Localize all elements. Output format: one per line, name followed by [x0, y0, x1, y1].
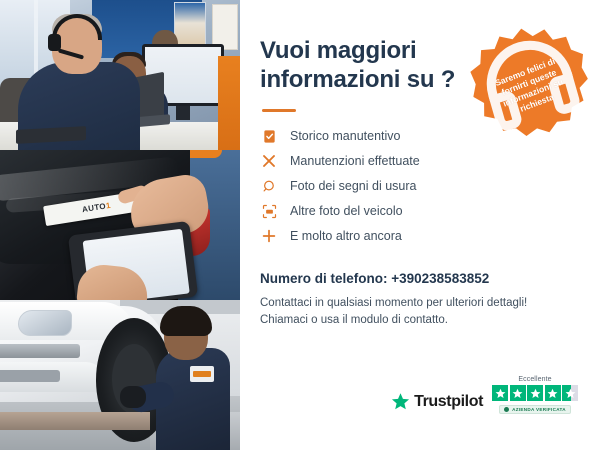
- star-icon-partial: [562, 385, 578, 401]
- photo-column: AUTO1: [0, 0, 240, 450]
- contact-copy-line-1: Contattaci in qualsiasi momento per ulte…: [260, 295, 576, 313]
- trustpilot-wordmark: Trustpilot: [414, 393, 483, 411]
- car-lower-intake: [0, 370, 60, 382]
- mechanic-glove: [120, 386, 146, 408]
- car-grille: [0, 344, 80, 358]
- verified-business-badge: AZIENDA VERIFICATA: [499, 405, 571, 414]
- mechanic-hair: [160, 306, 212, 336]
- star-icon: [492, 385, 508, 401]
- verified-business-label: AZIENDA VERIFICATA: [512, 407, 566, 412]
- contact-copy: Contattaci in qualsiasi momento per ulte…: [260, 295, 576, 331]
- list-item-label: Altre foto del veicolo: [290, 204, 403, 218]
- trustpilot-rating-label: Eccellente: [518, 376, 551, 383]
- list-item-label: Storico manutentivo: [290, 129, 400, 143]
- trustpilot-star-icon: [391, 392, 410, 411]
- monitor-stand: [176, 106, 190, 120]
- list-item: Foto dei segni di usura: [260, 174, 576, 199]
- phone-label: Numero di telefono:: [260, 271, 391, 286]
- phone-number[interactable]: +390238583852: [391, 271, 489, 286]
- star-icon: [527, 385, 543, 401]
- verified-check-icon: [504, 407, 509, 412]
- list-item-label: Foto dei segni di usura: [290, 179, 416, 193]
- list-item: E molto altro ancora: [260, 224, 576, 249]
- headline-line-1: Vuoi maggiori: [260, 37, 417, 64]
- plus-icon: [260, 227, 278, 245]
- photo-white-car-on-lift-mechanic: [0, 300, 240, 450]
- uniform-logo-patch: [190, 366, 214, 382]
- magnifier-icon: [260, 177, 278, 195]
- vehicle-lift-platform: [0, 412, 150, 430]
- orange-accent-edge: [218, 56, 240, 150]
- photo-vehicle-inspection-with-tablet: AUTO1: [0, 150, 240, 300]
- star-icon: [545, 385, 561, 401]
- clipboard-check-icon: [260, 127, 278, 145]
- content-panel: Vuoi maggiori informazioni su ? Storico …: [240, 0, 600, 450]
- trustpilot-widget[interactable]: Trustpilot Eccellente AZIENDA VERIFICATA: [391, 376, 578, 414]
- sticker-text: AUTO1: [82, 202, 112, 214]
- title-divider: [262, 109, 296, 112]
- star-icon: [510, 385, 526, 401]
- callout-badge: Saremo felici di fornirti queste informa…: [464, 18, 597, 151]
- phone-number-line: Numero di telefono: +390238583852: [260, 271, 576, 286]
- photo-call-centre-agents-with-headsets: [0, 0, 240, 150]
- list-item-label: E molto altro ancora: [290, 229, 402, 243]
- photo-scan-icon: [260, 202, 278, 220]
- trustpilot-rating-block: Eccellente AZIENDA VERIFICATA: [492, 376, 578, 414]
- tablet-text-line: [92, 250, 134, 258]
- list-item-label: Manutenzioni effettuate: [290, 154, 420, 168]
- car-headlight: [18, 310, 72, 336]
- headline-line-2: informazioni su ?: [260, 66, 455, 93]
- list-item: Manutenzioni effettuate: [260, 149, 576, 174]
- page-title: Vuoi maggiori informazioni su ?: [260, 36, 470, 95]
- trustpilot-stars: [492, 385, 578, 401]
- trustpilot-logo: Trustpilot: [391, 392, 483, 414]
- list-item: Altre foto del veicolo: [260, 199, 576, 224]
- contact-copy-line-2: Chiamaci o usa il modulo di contatto.: [260, 312, 576, 330]
- tools-cross-icon: [260, 152, 278, 170]
- promo-banner: AUTO1: [0, 0, 600, 450]
